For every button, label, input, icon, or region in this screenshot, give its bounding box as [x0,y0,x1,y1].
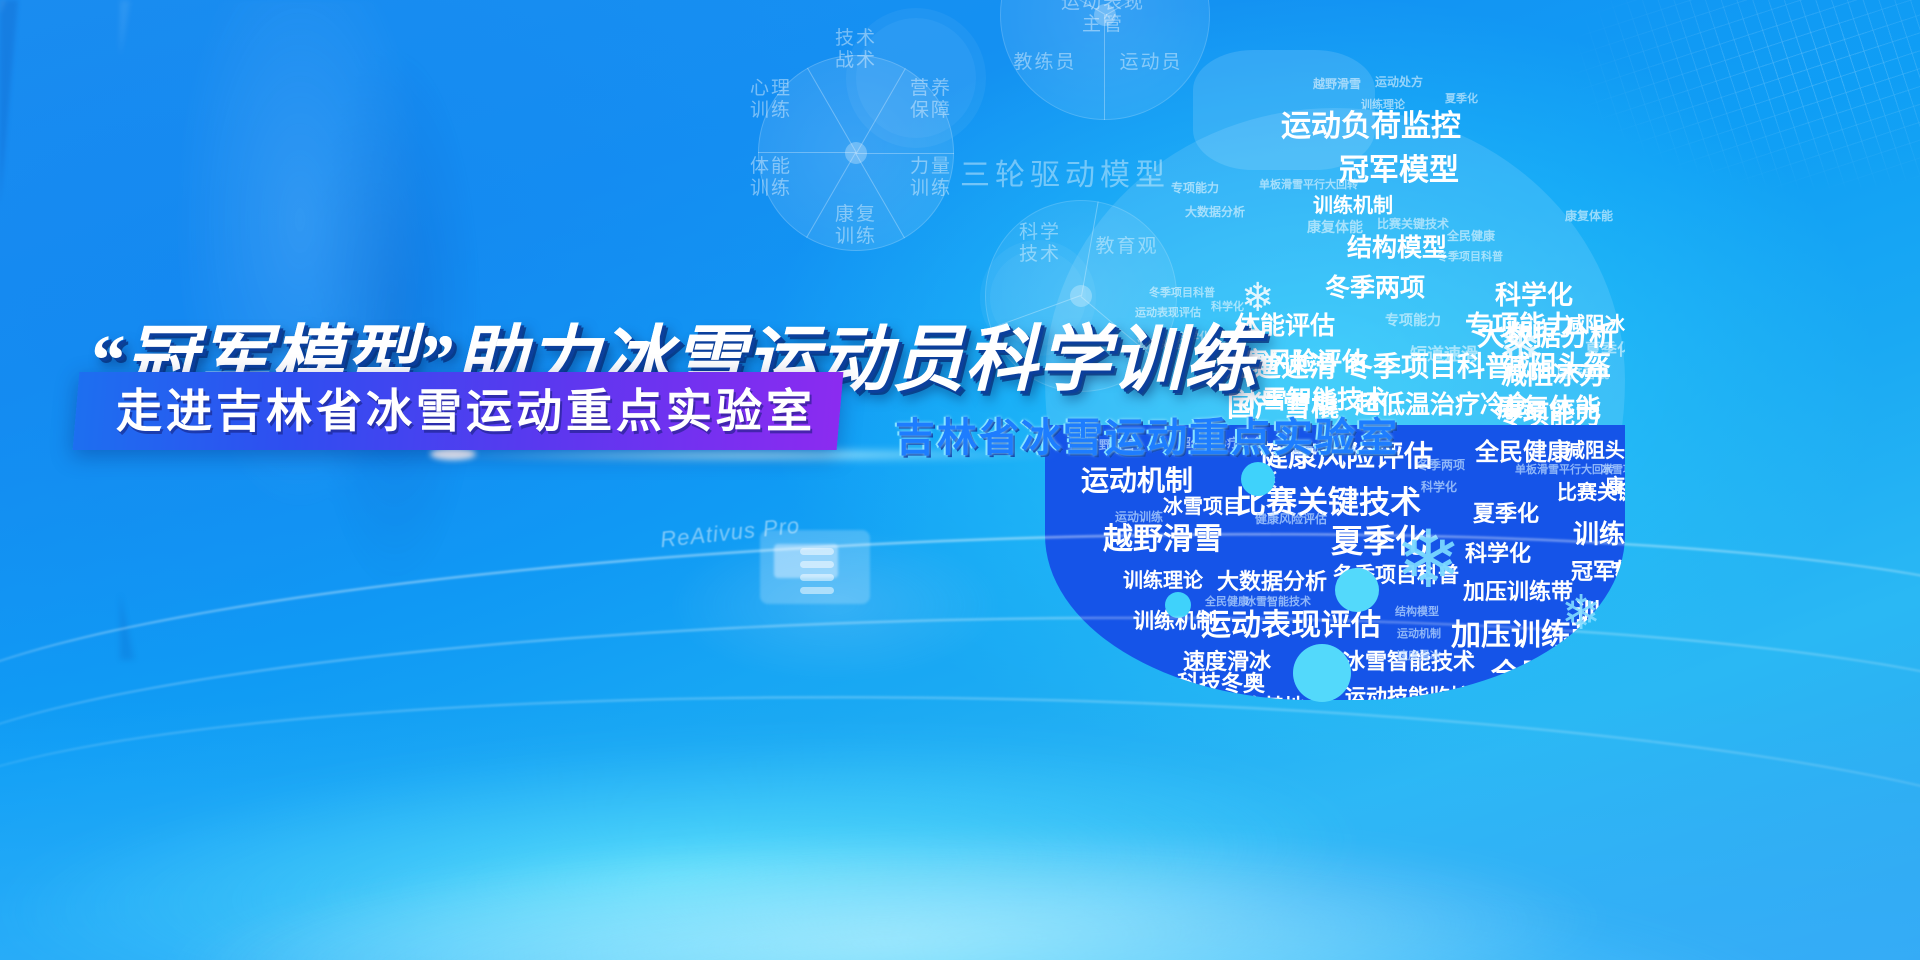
word-cloud-term: 冬季项目科普 [1437,252,1503,263]
word-cloud-term: 减阻冰刀 [1565,315,1625,335]
word-cloud-term: 专项能力 [1171,182,1219,194]
word-cloud-term: 运动处方 [1375,76,1423,88]
role-wheel-label: 运动表现 主管 [1048,0,1158,36]
banner-canvas: ReAtivus Pro 技术 战术 营养 保障 力量 训练 康复 训练 体能 … [0,0,1920,960]
subtitle-text: 走进吉林省冰雪运动重点实验室 [96,380,836,442]
word-cloud-term: 单板滑雪平行大回转 [1515,465,1614,476]
cloud-dot [1241,462,1275,496]
word-cloud-term: 结构模型 [1347,236,1447,261]
wheel-segment-label: 心理 训练 [726,78,816,122]
word-cloud-term: 科学化 [1421,481,1457,493]
wheel-segment-label: 体能 训练 [726,156,816,200]
word-cloud-term: 冰雪项目 [1601,465,1625,476]
word-cloud-term: 夏季化 [1473,503,1539,525]
word-cloud-term: 大数据分析 [1185,206,1245,218]
word-cloud-term: 单板滑雪平行大回转 [1259,180,1358,191]
word-cloud-term: 运动负荷监控 [1281,112,1461,142]
word-cloud-term: 国产雪橇 [1557,367,1609,380]
word-cloud-term: 康复体能 [1497,395,1601,421]
word-cloud-term: 全民健康 [1447,230,1495,242]
word-cloud-term: 全民健康 [1475,441,1571,465]
wheel-segment-label: 康复 训练 [806,204,906,248]
word-cloud-term: 夏季化 [1445,94,1478,105]
word-cloud-term: 冬季项目科普 [1345,353,1513,381]
word-cloud-term: 训练理论 [1361,100,1405,111]
word-cloud-term: 健康风险评估 [1255,513,1327,525]
word-cloud-term: 越野滑雪 [1313,78,1361,90]
word-cloud-term: 冰雪项目 [1163,497,1243,517]
lab-name-in-cloud: 吉林省冰雪运动重点实验室 [895,405,1399,463]
word-cloud-term: 冬季两项 [1417,459,1465,471]
word-cloud-term: 运动机制 [1081,467,1193,495]
snowflake-icon: ❄ [1497,318,1544,374]
word-cloud-term: 康复体能 [1565,210,1613,222]
wheel-segment-label: 营养 保障 [886,78,976,122]
word-cloud-term: 专项能力 [1385,313,1441,327]
word-cloud-term: 减阻头盔 [1565,441,1625,461]
word-cloud-term: 夏季化 [1585,343,1625,359]
word-cloud-term: 比赛关键技术 [1377,218,1449,230]
wheel-segment-label: 技术 战术 [806,28,906,72]
word-cloud-term: 运动训练 [1115,511,1163,523]
word-cloud-term: 训练机制 [1313,196,1393,216]
word-cloud-term: 康复体能 [1307,220,1363,234]
word-cloud-term: 康复体能 [1605,477,1625,497]
